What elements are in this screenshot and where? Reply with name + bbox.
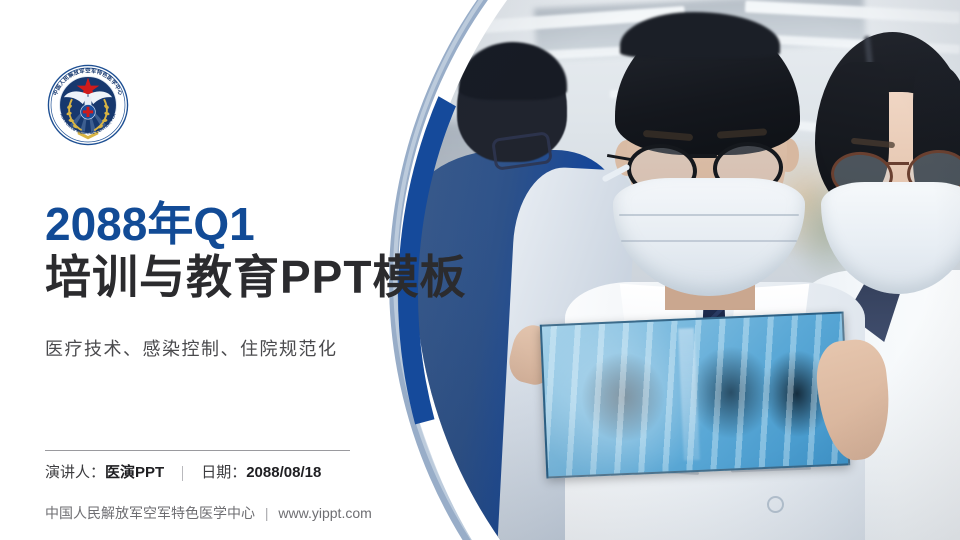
page-title: 2088年Q1 培训与教育PPT模板 xyxy=(45,198,515,304)
organization-logo: 中国人民解放军空军特色医学中心 AIR FORCE MEDICAL CENTER… xyxy=(45,62,131,148)
coat-button xyxy=(767,496,784,513)
subtitle: 医疗技术、感染控制、住院规范化 xyxy=(45,336,338,362)
date-value: 2088/08/18 xyxy=(246,462,321,484)
date-label: 日期： xyxy=(201,462,246,484)
meta-row: 演讲人： 医演PPT 日期： 2088/08/18 xyxy=(45,462,321,484)
mask-pleat xyxy=(621,240,797,242)
glasses-bridge xyxy=(885,162,909,165)
presenter-label: 演讲人： xyxy=(45,462,105,484)
footer-organization: 中国人民解放军空军特色医学中心 xyxy=(45,505,255,521)
footer-website[interactable]: www.yippt.com xyxy=(278,505,371,521)
meta-separator xyxy=(182,466,183,481)
footer-row: 中国人民解放军空军特色医学中心 | www.yippt.com xyxy=(45,503,372,523)
presentation-slide: 中国人民解放军空军特色医学中心 AIR FORCE MEDICAL CENTER… xyxy=(0,0,960,540)
presenter-value: 医演PPT xyxy=(105,462,164,484)
divider-line xyxy=(45,450,350,451)
title-line-year-quarter: 2088年Q1 xyxy=(45,198,515,250)
title-line-main: 培训与教育PPT模板 xyxy=(45,250,515,304)
mask-pleat xyxy=(619,214,799,216)
chest-xray-film xyxy=(540,311,850,478)
footer-separator: | xyxy=(265,505,269,521)
glasses-bridge xyxy=(689,154,717,158)
xray-glare xyxy=(540,311,719,478)
